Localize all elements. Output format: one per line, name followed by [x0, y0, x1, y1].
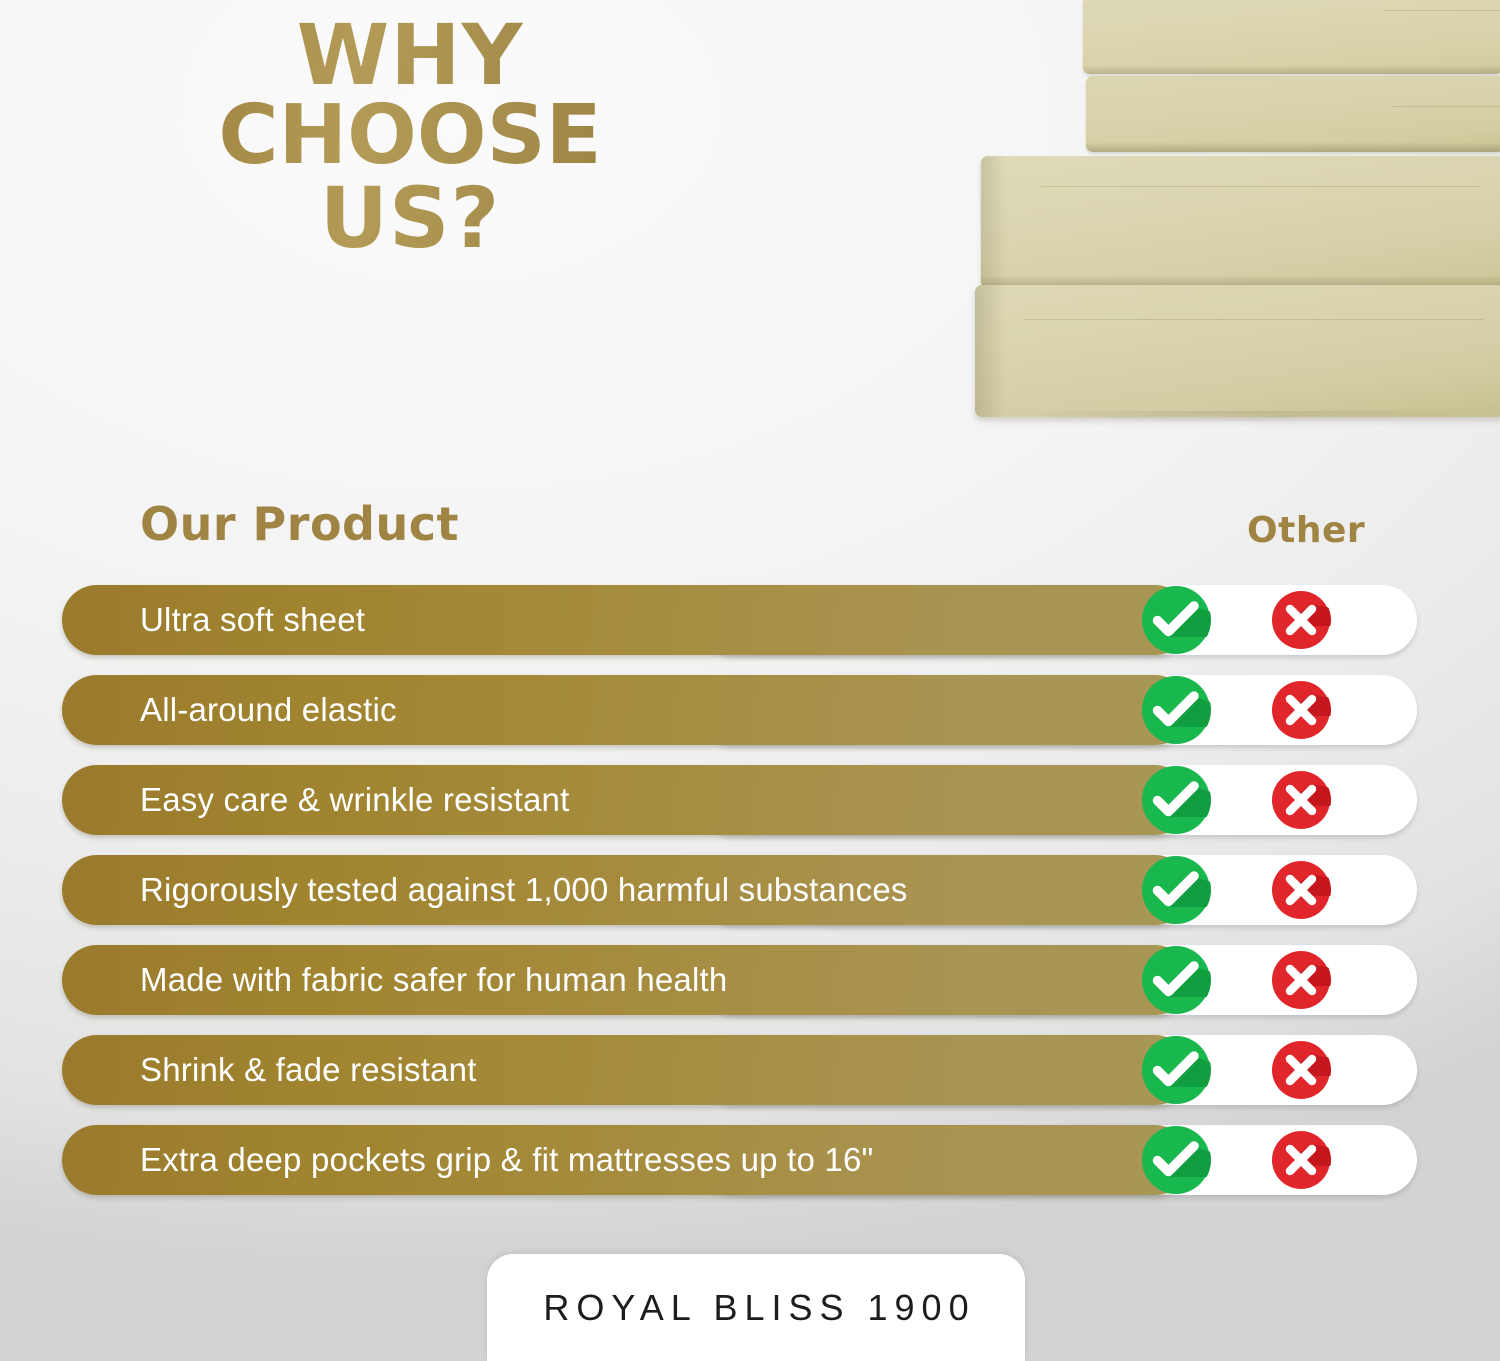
cross-circle-icon: [1271, 590, 1331, 650]
our-product-cell: Ultra soft sheet: [62, 585, 1190, 655]
check-circle-icon: [1141, 1125, 1211, 1195]
check-circle-icon: [1141, 585, 1211, 655]
cross-circle-icon: [1271, 770, 1331, 830]
check-circle-icon: [1141, 765, 1211, 835]
page-title: WHY CHOOSE US?: [140, 14, 680, 259]
cross-circle-icon: [1271, 1130, 1331, 1190]
check-circle-icon: [1141, 675, 1211, 745]
feature-label: Ultra soft sheet: [62, 601, 365, 639]
sheet-flat-third: [981, 156, 1500, 289]
headline-line-3: US?: [140, 177, 680, 259]
cross-circle-icon: [1271, 680, 1331, 740]
table-row: Made with fabric safer for human health: [0, 945, 1500, 1015]
feature-label: Extra deep pockets grip & fit mattresses…: [62, 1141, 873, 1179]
feature-label: All-around elastic: [62, 691, 397, 729]
brand-card: ROYAL BLISS 1900: [487, 1254, 1025, 1361]
table-row: Rigorously tested against 1,000 harmful …: [0, 855, 1500, 925]
sheet-pillowcase-second: [1086, 76, 1500, 152]
table-row: Shrink & fade resistant: [0, 1035, 1500, 1105]
headline-line-1: WHY: [140, 14, 680, 96]
table-row: Ultra soft sheet: [0, 585, 1500, 655]
our-product-cell: Rigorously tested against 1,000 harmful …: [62, 855, 1190, 925]
feature-label: Rigorously tested against 1,000 harmful …: [62, 871, 908, 909]
table-row: Easy care & wrinkle resistant: [0, 765, 1500, 835]
our-product-cell: Made with fabric safer for human health: [62, 945, 1190, 1015]
table-row: Extra deep pockets grip & fit mattresses…: [0, 1125, 1500, 1195]
table-row: All-around elastic: [0, 675, 1500, 745]
check-circle-icon: [1141, 945, 1211, 1015]
check-circle-icon: [1141, 855, 1211, 925]
sheet-fitted-bottom: [975, 285, 1500, 417]
our-product-cell: Easy care & wrinkle resistant: [62, 765, 1190, 835]
our-product-cell: Extra deep pockets grip & fit mattresses…: [62, 1125, 1190, 1195]
product-image-stacked-sheets: [955, 0, 1500, 416]
check-circle-icon: [1141, 1035, 1211, 1105]
sheet-pillowcase-top: [1083, 0, 1500, 74]
comparison-table: Ultra soft sheet All-around elastic Easy…: [0, 585, 1500, 1215]
feature-label: Shrink & fade resistant: [62, 1051, 477, 1089]
feature-label: Easy care & wrinkle resistant: [62, 781, 569, 819]
infographic-canvas: WHY CHOOSE US? Our Product Other Ultra s…: [0, 0, 1500, 1361]
column-header-other: Other: [1247, 510, 1365, 551]
headline-line-2: CHOOSE: [140, 96, 680, 176]
feature-label: Made with fabric safer for human health: [62, 961, 727, 999]
our-product-cell: All-around elastic: [62, 675, 1190, 745]
cross-circle-icon: [1271, 950, 1331, 1010]
cross-circle-icon: [1271, 860, 1331, 920]
cross-circle-icon: [1271, 1040, 1331, 1100]
brand-name: ROYAL BLISS 1900: [536, 1287, 975, 1329]
our-product-cell: Shrink & fade resistant: [62, 1035, 1190, 1105]
product-image-shadow: [965, 411, 1500, 427]
column-header-our-product: Our Product: [140, 497, 459, 551]
